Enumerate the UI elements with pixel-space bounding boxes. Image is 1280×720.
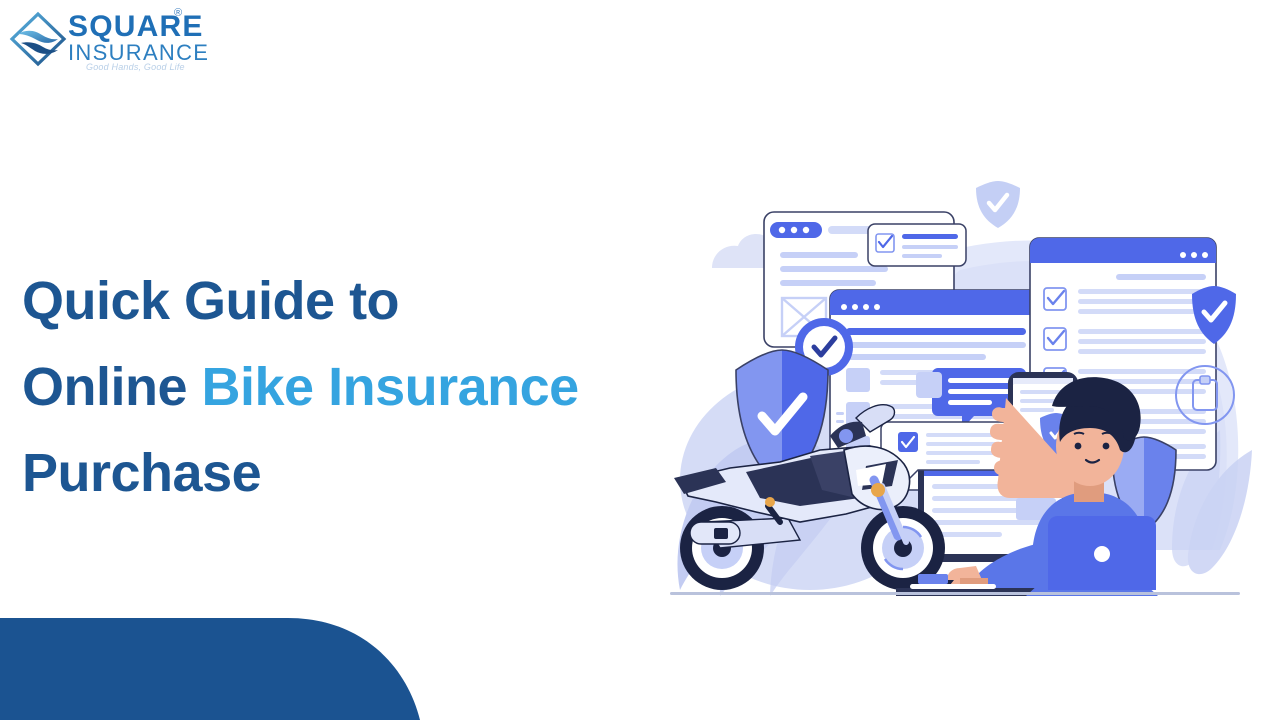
ground-line: [670, 592, 1240, 595]
headline-line-3: Purchase: [22, 430, 702, 516]
headline-plain: Online: [22, 357, 202, 417]
page-title: Quick Guide to Online Bike Insurance Pur…: [22, 258, 702, 516]
brand-logo[interactable]: SQUARE ® INSURANCE Good Hands, Good Life: [6, 4, 206, 74]
shield-faded-top: [976, 181, 1020, 228]
bottom-left-curved-banner: [0, 618, 460, 720]
headline-line-1: Quick Guide to: [22, 258, 702, 344]
brand-tagline: Good Hands, Good Life: [86, 62, 185, 72]
headline-accent: Bike Insurance: [202, 357, 579, 417]
slide-canvas: SQUARE ® INSURANCE Good Hands, Good Life…: [0, 0, 1280, 720]
online-bike-insurance-purchase-illustration: [660, 150, 1270, 610]
brand-wordmark: SQUARE ® INSURANCE Good Hands, Good Life: [68, 6, 208, 72]
diamond-bird-logo-icon: [8, 10, 70, 68]
registered-trademark-icon: ®: [174, 7, 182, 19]
brand-name-line1: SQUARE: [68, 12, 204, 42]
check-card-small[interactable]: [868, 224, 966, 266]
brand-name-line2: INSURANCE: [68, 42, 209, 64]
headline-line-2: Online Bike Insurance: [22, 344, 702, 430]
